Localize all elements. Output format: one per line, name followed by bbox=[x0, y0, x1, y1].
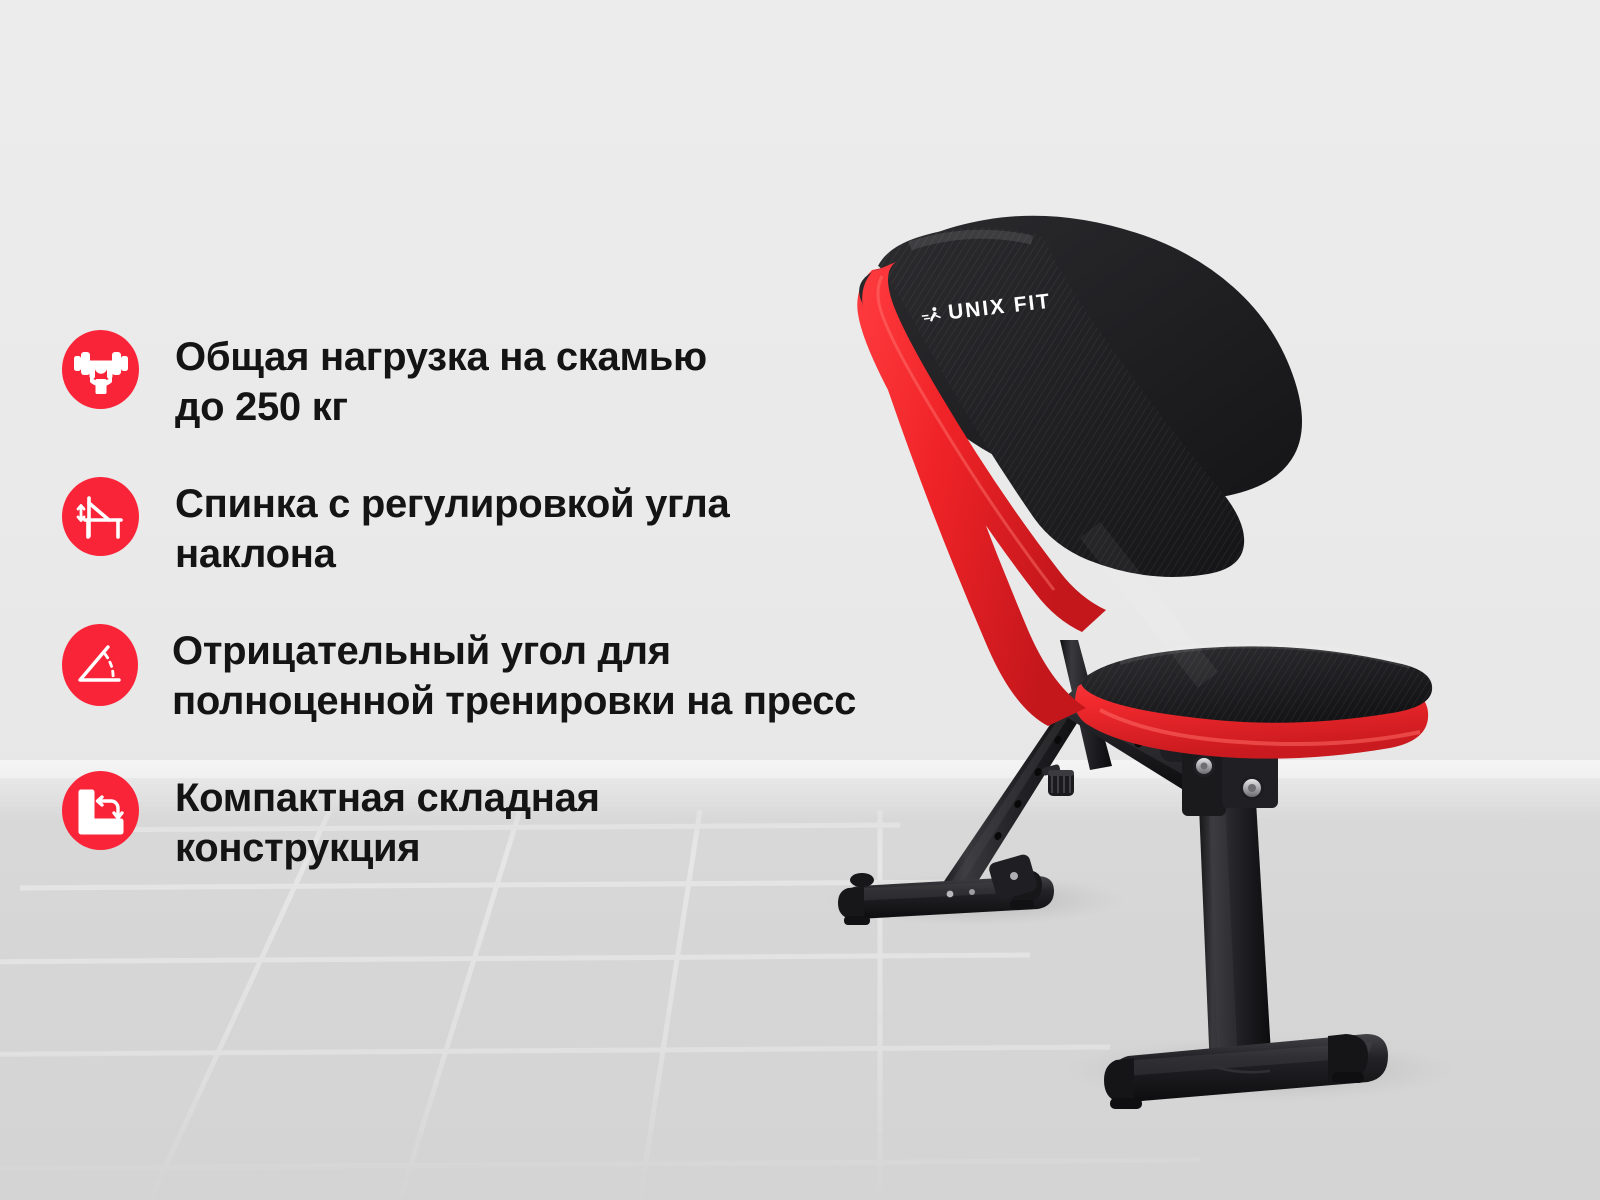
adjustable-backrest-icon bbox=[62, 477, 139, 556]
product-image-adjustable-weight-bench bbox=[760, 210, 1580, 1130]
infographic-canvas: Общая нагрузка на скамью до 250 кг bbox=[0, 0, 1600, 1200]
negative-angle-icon bbox=[62, 624, 138, 706]
folding-construction-icon bbox=[62, 771, 139, 850]
weightlifter-barbell-icon bbox=[62, 330, 139, 409]
adjustment-knob bbox=[1041, 764, 1074, 796]
hex-bolt-lower bbox=[1240, 776, 1264, 800]
feature-label: Общая нагрузка на скамью до 250 кг bbox=[175, 330, 707, 432]
hex-bolt-upper bbox=[1193, 755, 1215, 777]
feature-label: Компактная складная конструкция bbox=[175, 771, 600, 873]
feature-label: Отрицательный угол для полноценной трени… bbox=[172, 624, 856, 726]
seat-pad bbox=[1075, 645, 1432, 758]
feature-label: Спинка с регулировкой угла наклона bbox=[175, 477, 729, 579]
